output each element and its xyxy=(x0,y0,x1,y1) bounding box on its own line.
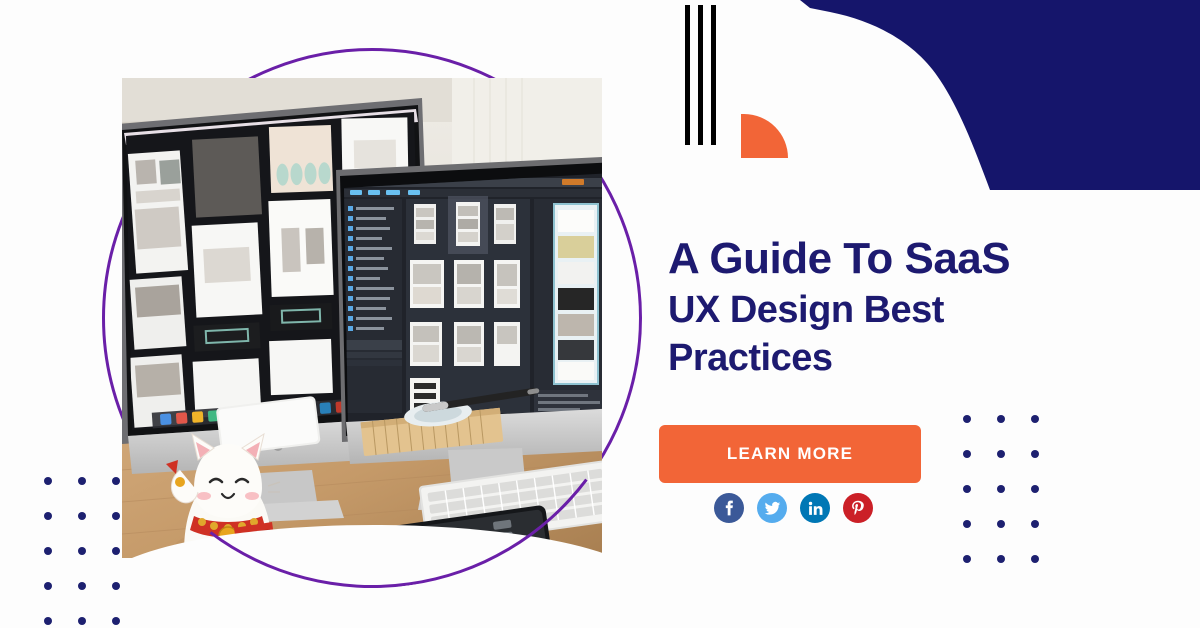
dot xyxy=(44,512,52,520)
navy-blob-decoration xyxy=(800,0,1200,190)
headline-line-3: Practices xyxy=(668,334,1138,382)
facebook-icon[interactable] xyxy=(714,493,744,523)
dot xyxy=(1031,415,1039,423)
dot xyxy=(78,582,86,590)
twitter-glyph xyxy=(764,500,781,517)
dot xyxy=(78,547,86,555)
hero-photo: 福 xyxy=(122,78,602,558)
dot xyxy=(963,415,971,423)
dot xyxy=(78,477,86,485)
quarter-circle-decoration xyxy=(741,114,788,158)
dot xyxy=(78,617,86,625)
facebook-glyph xyxy=(721,500,737,516)
bar-2 xyxy=(698,5,703,145)
headline-line-1: A Guide To SaaS xyxy=(668,232,1138,286)
dot xyxy=(963,450,971,458)
dot xyxy=(112,477,120,485)
dot xyxy=(112,512,120,520)
dot xyxy=(44,617,52,625)
pinterest-icon[interactable] xyxy=(843,493,873,523)
dot xyxy=(44,582,52,590)
dot xyxy=(963,555,971,563)
headline: A Guide To SaaS UX Design Best Practices xyxy=(668,232,1138,382)
dot xyxy=(997,450,1005,458)
banner: 福 xyxy=(0,0,1200,628)
dot xyxy=(1031,450,1039,458)
hero-photo-illustration: 福 xyxy=(122,78,602,558)
dot xyxy=(1031,485,1039,493)
dot xyxy=(997,555,1005,563)
learn-more-button[interactable]: LEARN MORE xyxy=(659,425,921,483)
bar-3 xyxy=(711,5,716,145)
headline-line-2: UX Design Best xyxy=(668,286,1138,334)
dot xyxy=(112,617,120,625)
dot xyxy=(963,520,971,528)
dot xyxy=(44,547,52,555)
linkedin-icon[interactable] xyxy=(800,493,830,523)
dot xyxy=(997,485,1005,493)
dot-grid-right xyxy=(963,415,1039,563)
dot xyxy=(112,582,120,590)
dot xyxy=(112,547,120,555)
dot xyxy=(44,477,52,485)
pinterest-glyph xyxy=(850,500,866,516)
linkedin-glyph xyxy=(808,501,823,516)
bar-1 xyxy=(685,5,690,145)
vertical-bars-decoration xyxy=(685,5,716,145)
dot xyxy=(997,520,1005,528)
dot xyxy=(78,512,86,520)
svg-text:福: 福 xyxy=(248,537,259,551)
dot xyxy=(963,485,971,493)
dot xyxy=(1031,520,1039,528)
twitter-icon[interactable] xyxy=(757,493,787,523)
social-links xyxy=(714,493,873,523)
dot xyxy=(1031,555,1039,563)
dot-grid-left xyxy=(44,477,120,625)
dot xyxy=(997,415,1005,423)
